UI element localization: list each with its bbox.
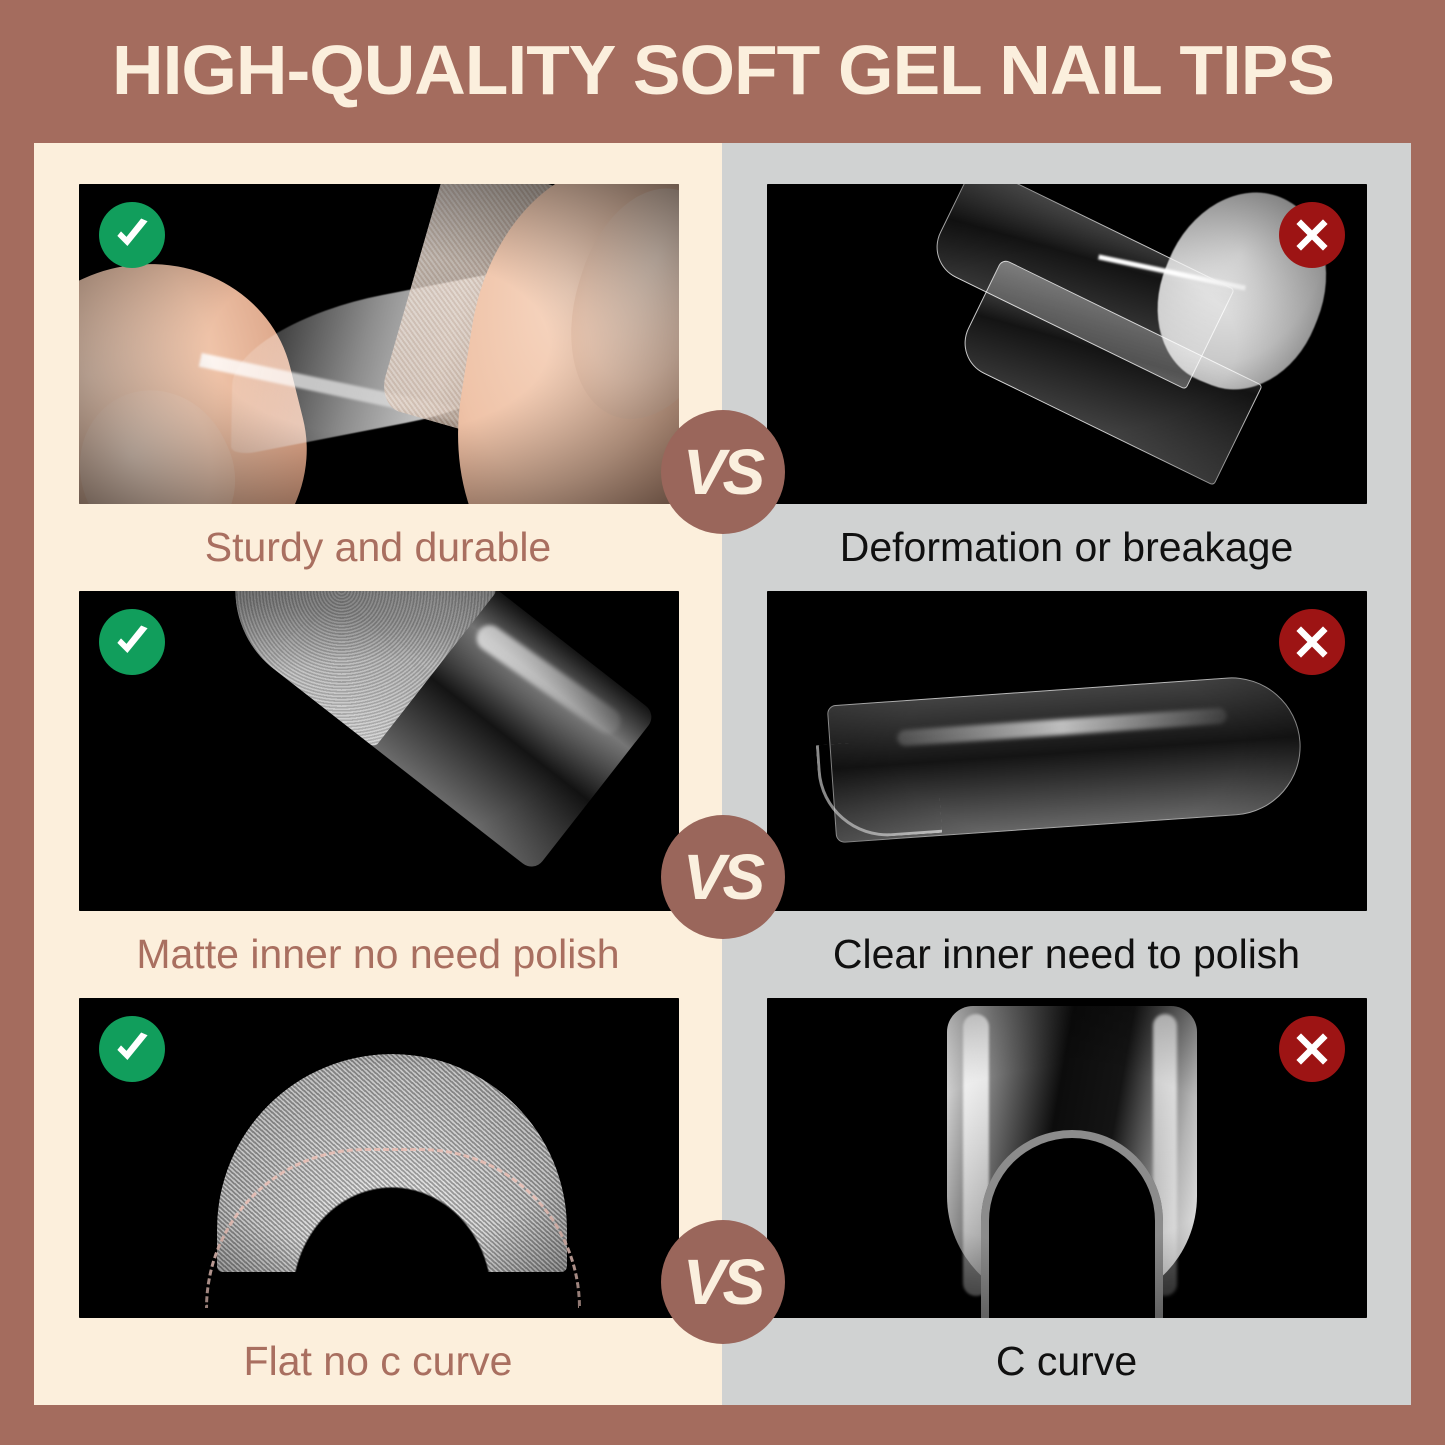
nail-tip-matte-inner: [195, 591, 657, 872]
good-photo-1: [79, 184, 679, 504]
bad-photo-1: [767, 184, 1367, 504]
matte-surface: [195, 591, 498, 748]
bad-row-1: Deformation or breakage: [722, 184, 1411, 591]
bad-column-panel: Deformation or breakage Clear inner need…: [722, 143, 1411, 1405]
good-caption-3: Flat no c curve: [244, 1318, 513, 1405]
bad-caption-1: Deformation or breakage: [840, 504, 1294, 591]
good-column-panel: Sturdy and durable Matte inner: [34, 143, 722, 1405]
good-row-2: Matte inner no need polish: [34, 591, 722, 998]
c-curve-opening: [981, 1130, 1163, 1318]
comparison-board: Sturdy and durable Matte inner: [34, 143, 1411, 1405]
thumb-right-nail: [544, 184, 678, 439]
bad-caption-3: C curve: [996, 1318, 1137, 1405]
bad-caption-2: Clear inner need to polish: [833, 911, 1300, 998]
cross-icon: [1279, 609, 1345, 675]
vs-badge-row-2: VS: [661, 815, 785, 939]
bad-photo-2: [767, 591, 1367, 911]
bad-photo-3: [767, 998, 1367, 1318]
title-bar: HIGH-QUALITY SOFT GEL NAIL TIPS: [0, 0, 1445, 140]
good-caption-2: Matte inner no need polish: [136, 911, 619, 998]
vs-badge-row-1: VS: [661, 410, 785, 534]
gloss-highlight: [471, 620, 625, 739]
cross-icon: [1279, 1016, 1345, 1082]
bad-row-2: Clear inner need to polish: [722, 591, 1411, 998]
check-icon: [99, 1016, 165, 1082]
vs-label: VS: [683, 845, 762, 909]
check-icon: [99, 609, 165, 675]
page-title: HIGH-QUALITY SOFT GEL NAIL TIPS: [112, 35, 1334, 105]
vs-label: VS: [683, 440, 762, 504]
good-row-1: Sturdy and durable: [34, 184, 722, 591]
good-caption-1: Sturdy and durable: [205, 504, 551, 591]
good-row-3: Flat no c curve: [34, 998, 722, 1405]
good-photo-2: [79, 591, 679, 911]
vs-badge-row-3: VS: [661, 1220, 785, 1344]
check-icon: [99, 202, 165, 268]
vs-label: VS: [683, 1250, 762, 1314]
bad-row-3: C curve: [722, 998, 1411, 1405]
cross-icon: [1279, 202, 1345, 268]
good-photo-3: [79, 998, 679, 1318]
